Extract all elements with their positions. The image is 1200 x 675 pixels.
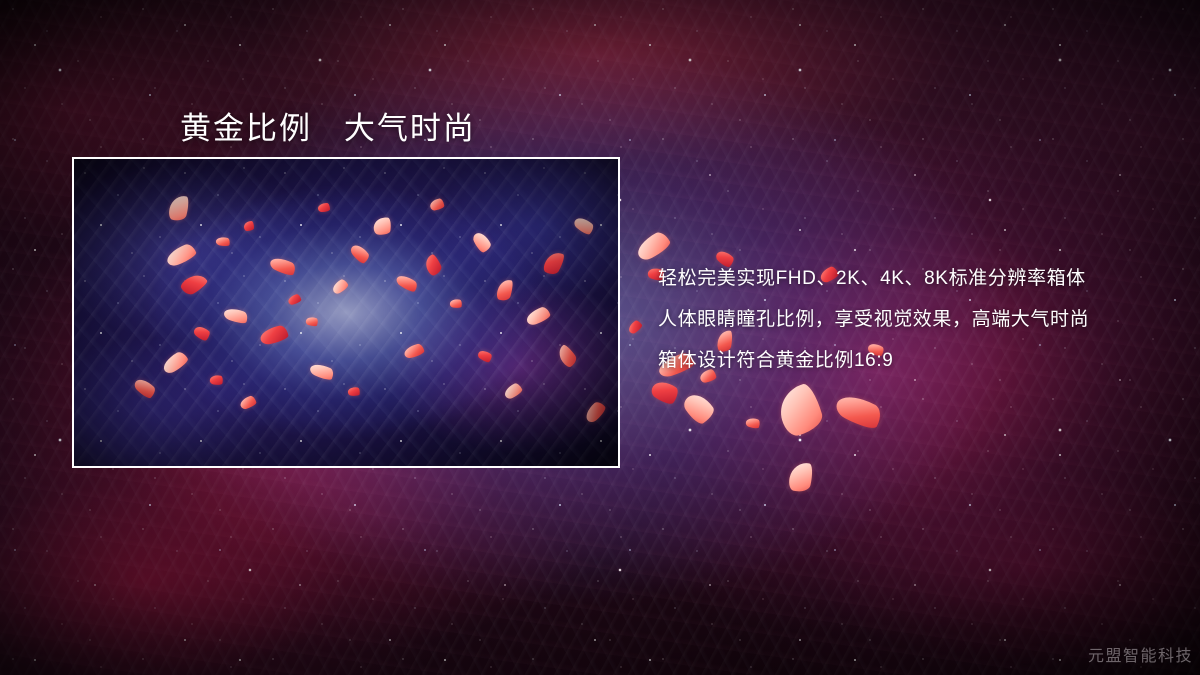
flower-petal <box>582 399 608 424</box>
flower-petal <box>132 375 158 400</box>
framed-photo <box>72 157 620 468</box>
flower-petal <box>471 230 492 254</box>
body-line-1: 轻松完美实现FHD、2K、4K、8K标准分辨率箱体 <box>658 258 1178 299</box>
flower-petal <box>626 319 643 335</box>
flower-petal <box>318 203 330 212</box>
flower-petal <box>787 460 815 494</box>
flower-petal <box>209 374 224 386</box>
flower-petal <box>349 242 372 266</box>
slide-canvas: 黄金比例 大气时尚 轻松完美实现FHD、2K、4K、8K标准分辨率箱体 人体眼睛… <box>0 0 1200 675</box>
flower-petal <box>403 343 425 359</box>
flower-petal <box>244 221 254 231</box>
flower-petal <box>347 386 360 397</box>
photo-vignette <box>74 159 618 466</box>
flower-petal <box>223 305 250 325</box>
flower-petal <box>287 293 302 305</box>
flower-petal <box>179 270 210 297</box>
flower-petal <box>524 305 551 326</box>
flower-petal <box>745 416 761 430</box>
photo-starfield <box>74 159 618 466</box>
watermark: 元盟智能科技 <box>1088 642 1193 666</box>
body-text-block: 轻松完美实现FHD、2K、4K、8K标准分辨率箱体 人体眼睛瞳孔比例，享受视觉效… <box>658 258 1178 381</box>
flower-petal <box>305 315 319 327</box>
flower-petal <box>330 278 349 296</box>
body-line-2: 人体眼睛瞳孔比例，享受视觉效果，高端大气时尚 <box>658 299 1178 340</box>
flower-petal <box>215 236 231 248</box>
flower-petal <box>239 395 258 410</box>
flower-petal <box>572 214 596 237</box>
flower-petal <box>373 216 392 236</box>
flower-petal <box>555 343 579 369</box>
photo-nebula-background <box>74 159 618 466</box>
flower-petal <box>502 382 523 401</box>
flower-petal <box>160 350 190 376</box>
flower-petal <box>395 272 420 294</box>
flower-petal <box>167 193 191 223</box>
flower-petal <box>774 381 826 438</box>
flower-petal <box>495 277 515 302</box>
flower-petal <box>259 324 290 345</box>
flower-petal <box>164 242 198 268</box>
flower-petal <box>476 348 493 364</box>
flower-petal <box>429 198 445 211</box>
flower-petal <box>308 361 335 383</box>
flower-petal <box>649 376 682 407</box>
flower-petal <box>833 389 886 434</box>
flower-petal <box>541 249 566 278</box>
page-title: 黄金比例 大气时尚 <box>180 103 476 148</box>
flower-petal <box>268 254 298 278</box>
flower-petal <box>423 253 444 277</box>
flower-petal <box>449 298 462 309</box>
flower-petal <box>192 323 212 342</box>
body-line-3: 箱体设计符合黄金比例16:9 <box>658 340 1178 381</box>
flower-petal <box>681 389 718 427</box>
photo-wisp-texture <box>74 159 618 466</box>
